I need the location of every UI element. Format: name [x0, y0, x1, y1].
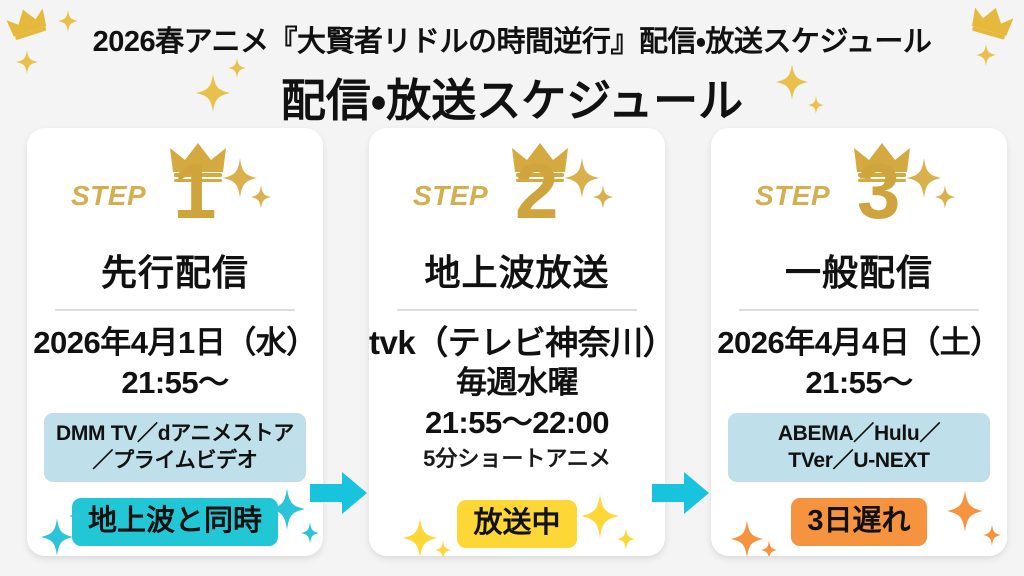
status-badge-1: 地上波と同時: [72, 498, 278, 546]
badge-wrap-2: 放送中: [369, 500, 665, 556]
card-heading-2: 地上波放送: [369, 244, 665, 296]
sparkle-icon-badge2-left-small: [435, 540, 451, 556]
step-badge-2: STEP 2: [369, 138, 665, 242]
step-word-3: STEP: [755, 180, 830, 212]
sparkle-icon-badge2-right: [581, 494, 619, 543]
info-line-day-2: 毎週水曜: [369, 363, 665, 403]
sparkle-icon-step2-small: [593, 185, 613, 214]
sparkle-icon-badge2-left: [403, 518, 437, 556]
platform-line-3b: TVer／U-NEXT: [732, 447, 986, 474]
card-divider-3: [739, 309, 979, 311]
sparkle-icon-badge3-right: [947, 490, 983, 537]
badge-wrap-1: 地上波と同時: [27, 498, 323, 556]
status-badge-3: 3日遅れ: [791, 498, 926, 546]
card-info-2: tvk（テレビ神奈川） 毎週水曜 21:55〜22:00 5分ショートアニメ: [369, 323, 665, 474]
arrow-step1-to-step2: [310, 468, 368, 518]
platform-line-3a: ABEMA／Hulu／: [732, 420, 986, 447]
sparkle-icon-badge3-left: [731, 520, 763, 556]
sparkle-icon-badge1-left: [41, 518, 73, 556]
schedule-card-step1[interactable]: STEP 1 先行配信 2026年4月1日（水） 21:55〜 DMM TV／d…: [27, 128, 323, 556]
step-word-2: STEP: [413, 180, 488, 212]
step-word-1: STEP: [71, 180, 146, 212]
step-badge-3: STEP 3: [711, 138, 1007, 242]
sparkle-icon-badge3-left-small: [761, 540, 777, 556]
info-line-date-3: 2026年4月4日（土）: [711, 323, 1007, 363]
platform-box-1: DMM TV／dアニメストア ／プライムビデオ: [44, 413, 306, 482]
card-heading-3: 一般配信: [711, 244, 1007, 296]
platform-line-1b: ／プライムビデオ: [48, 447, 302, 474]
sparkle-icon-badge3-right-small: [983, 524, 1001, 551]
page-subtitle: 配信・放送スケジュール: [0, 64, 1024, 129]
platform-box-3: ABEMA／Hulu／ TVer／U-NEXT: [728, 413, 990, 482]
status-badge-2: 放送中: [457, 500, 576, 548]
card-info-3: 2026年4月4日（土） 21:55〜: [711, 323, 1007, 403]
card-divider-2: [397, 309, 637, 311]
schedule-card-row: STEP 1 先行配信 2026年4月1日（水） 21:55〜 DMM TV／d…: [0, 128, 1024, 560]
info-line-date-1: 2026年4月1日（水）: [27, 323, 323, 363]
card-heading-1: 先行配信: [27, 244, 323, 296]
page-header: 2026春アニメ『大賢者リドルの時間逆行』配信・放送スケジュール 配信・放送スケ…: [0, 0, 1024, 122]
sparkle-icon-badge2-right-small: [617, 528, 635, 555]
card-divider-1: [55, 309, 295, 311]
badge-wrap-3: 3日遅れ: [711, 498, 1007, 556]
card-info-1: 2026年4月1日（水） 21:55〜: [27, 323, 323, 403]
sparkle-icon-step3-small: [935, 185, 955, 214]
info-note-2: 5分ショートアニメ: [369, 444, 665, 474]
sparkle-icon-step1-small: [251, 185, 271, 214]
info-line-time-3: 21:55〜: [711, 363, 1007, 403]
sparkle-icon-badge1-right-small: [301, 522, 319, 549]
info-line-time-1: 21:55〜: [27, 363, 323, 403]
step-badge-1: STEP 1: [27, 138, 323, 242]
step-number-1: 1: [173, 152, 216, 230]
arrow-step2-to-step3: [652, 468, 710, 518]
info-line-channel-2: tvk（テレビ神奈川）: [369, 323, 665, 363]
schedule-card-step3[interactable]: STEP 3 一般配信 2026年4月4日（土） 21:55〜 ABEMA／Hu…: [711, 128, 1007, 556]
info-line-time-2: 21:55〜22:00: [369, 403, 665, 443]
page-title: 2026春アニメ『大賢者リドルの時間逆行』配信・放送スケジュール: [0, 18, 1024, 60]
step-number-2: 2: [515, 152, 558, 230]
schedule-card-step2[interactable]: STEP 2 地上波放送 tvk（テレビ神奈川） 毎週水曜 21:55〜22:0…: [369, 128, 665, 556]
platform-line-1a: DMM TV／dアニメストア: [48, 420, 302, 447]
step-number-3: 3: [857, 152, 900, 230]
